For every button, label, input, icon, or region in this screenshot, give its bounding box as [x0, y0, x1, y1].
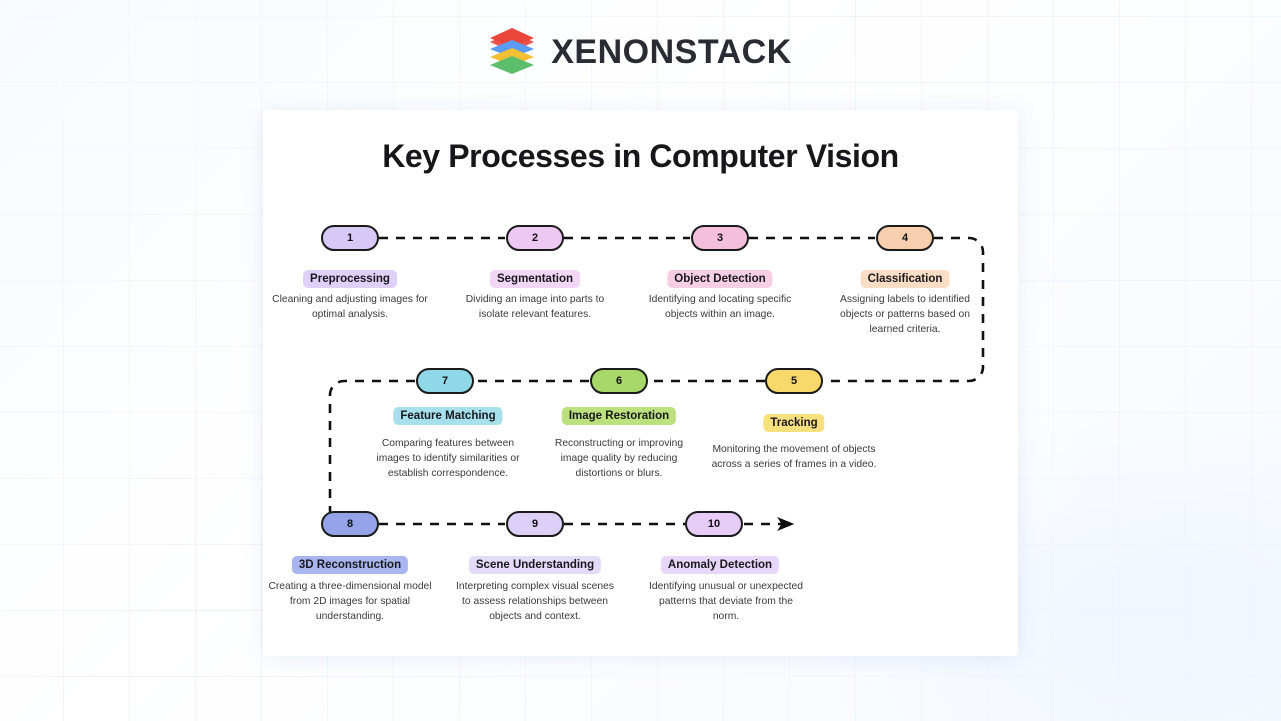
node-description-6: Reconstructing or improving image qualit… [540, 437, 698, 482]
node-description-5: Monitoring the movement of objects acros… [708, 443, 880, 473]
node-label-4: Classification [861, 270, 950, 288]
node-label-8: 3D Reconstruction [292, 556, 408, 574]
node-label-3: Object Detection [667, 270, 772, 288]
node-number-badge-8[interactable]: 8 [321, 511, 379, 537]
node-label-7: Feature Matching [393, 407, 502, 425]
node-description-9: Interpreting complex visual scenes to as… [452, 580, 618, 625]
process-flow-diagram: 1 Preprocessing Cleaning and adjusting i… [263, 110, 1018, 656]
node-description-2: Dividing an image into parts to isolate … [455, 293, 615, 323]
node-number-badge-5[interactable]: 5 [765, 368, 823, 394]
node-number-badge-2[interactable]: 2 [506, 225, 564, 251]
brand-header: XENONSTACK [0, 26, 1281, 78]
node-description-3: Identifying and locating specific object… [640, 293, 800, 323]
node-number-badge-7[interactable]: 7 [416, 368, 474, 394]
node-number-badge-9[interactable]: 9 [506, 511, 564, 537]
node-label-1: Preprocessing [303, 270, 397, 288]
node-number-badge-1[interactable]: 1 [321, 225, 379, 251]
node-label-6: Image Restoration [562, 407, 676, 425]
infographic-card: Key Processes in Computer Vision [263, 110, 1018, 656]
node-description-8: Creating a three-dimensional model from … [267, 580, 433, 625]
node-label-5: Tracking [763, 414, 824, 432]
node-number-badge-10[interactable]: 10 [685, 511, 743, 537]
node-number-badge-4[interactable]: 4 [876, 225, 934, 251]
brand-name: XENONSTACK [551, 33, 792, 72]
node-label-2: Segmentation [490, 270, 580, 288]
node-description-1: Cleaning and adjusting images for optima… [267, 293, 433, 323]
node-label-9: Scene Understanding [469, 556, 601, 574]
node-number-badge-6[interactable]: 6 [590, 368, 648, 394]
stacked-layers-icon [489, 27, 535, 77]
node-description-10: Identifying unusual or unexpected patter… [646, 580, 806, 625]
node-description-4: Assigning labels to identified objects o… [830, 293, 980, 338]
node-description-7: Comparing features between images to ide… [372, 437, 524, 482]
node-number-badge-3[interactable]: 3 [691, 225, 749, 251]
node-label-10: Anomaly Detection [661, 556, 779, 574]
